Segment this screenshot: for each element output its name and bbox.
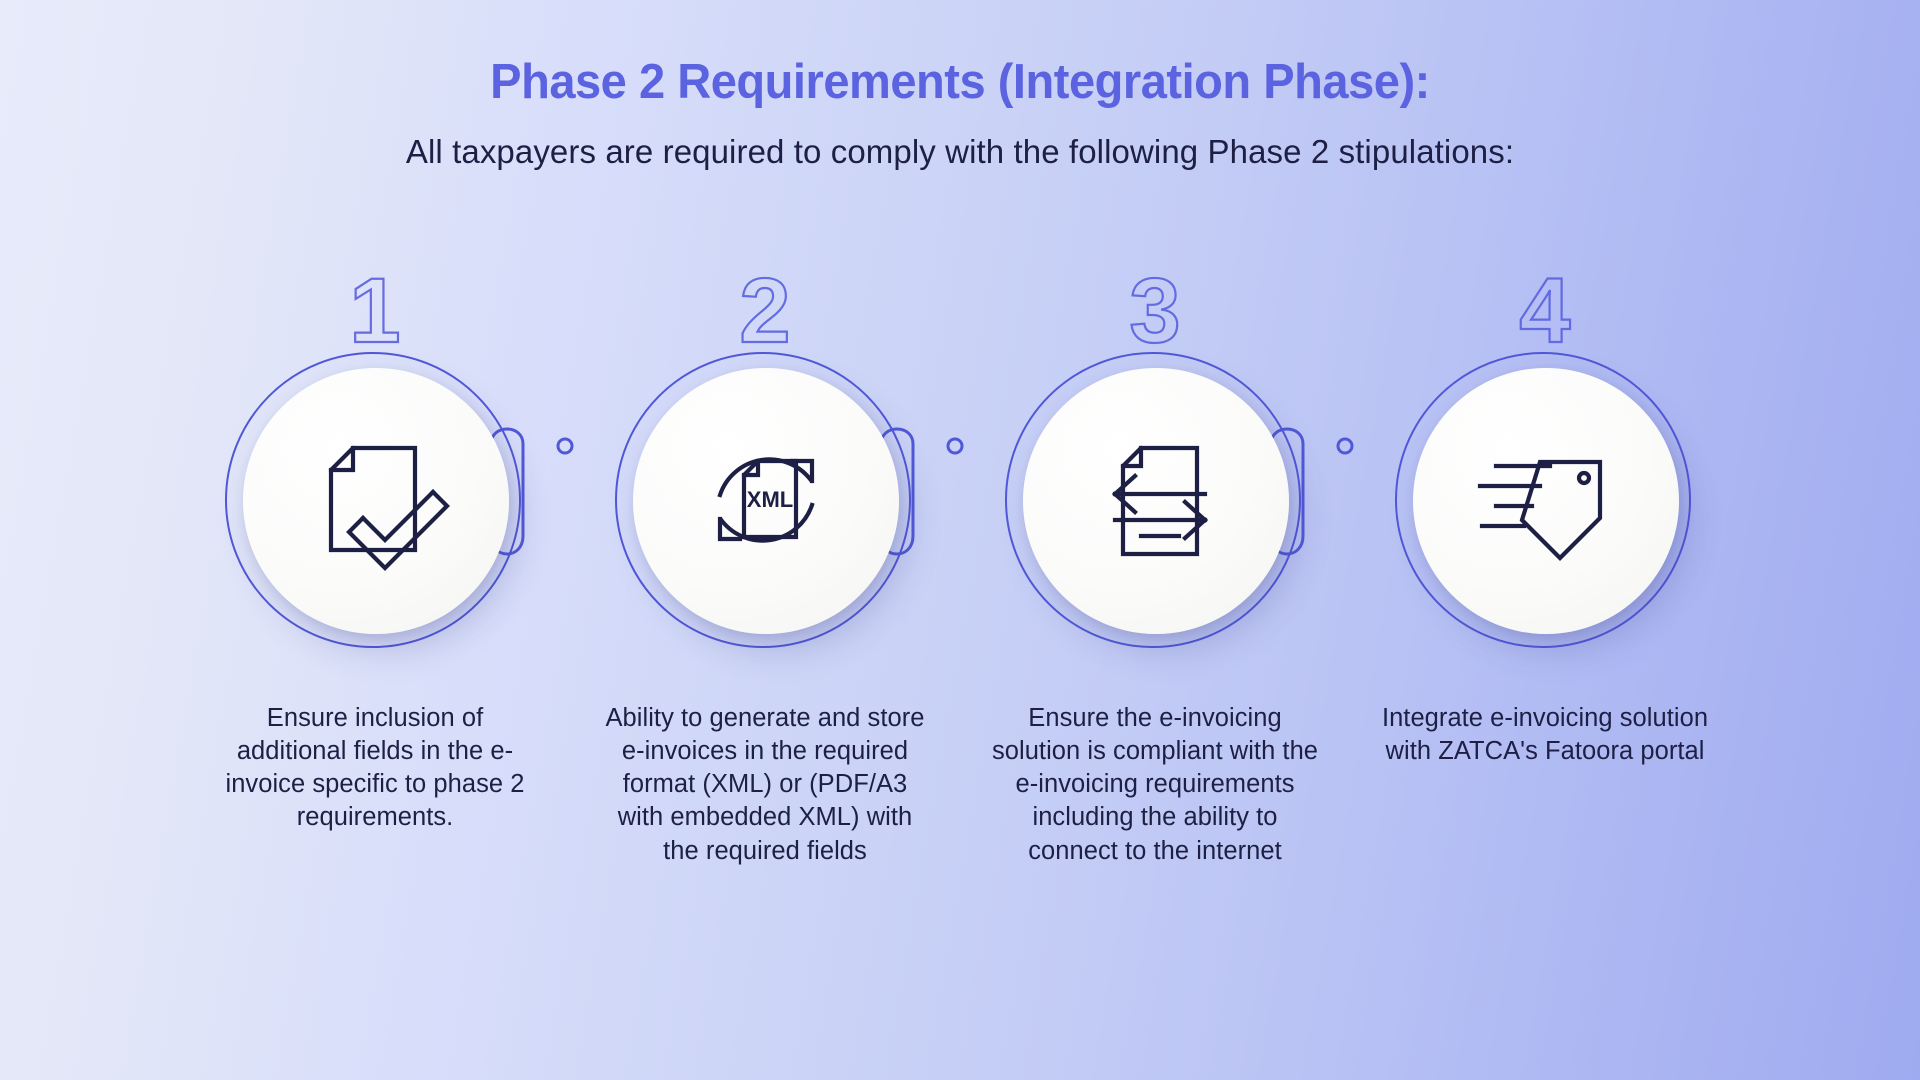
step-circle-2[interactable]: XML [615,352,915,652]
step-3: 3 [960,268,1350,868]
step-number-1: 1 [180,268,570,346]
circle-disc [1413,368,1679,634]
document-exchange-arrows-icon [1079,424,1234,579]
step-number-4: 4 [1350,268,1740,346]
step-caption-2: Ability to generate and store e-invoices… [600,702,930,868]
step-1: 1 Ensure inclusion of addi [180,268,570,835]
numeral-glyph-3: 3 [1129,260,1180,362]
xml-refresh-icon: XML [686,421,846,581]
page-subtitle: All taxpayers are required to comply wit… [0,107,1920,171]
step-caption-1: Ensure inclusion of additional fields in… [210,702,540,835]
circle-disc [243,368,509,634]
page-title: Phase 2 Requirements (Integration Phase)… [38,58,1881,107]
step-circle-1[interactable] [225,352,525,652]
step-circle-3[interactable] [1005,352,1305,652]
circle-disc [1023,368,1289,634]
numeral-glyph-1: 1 [349,260,400,362]
step-2: 2 XML [570,268,960,868]
step-4: 4 Integrate e-invoicing solution with ZA… [1350,268,1740,768]
step-number-2: 2 [570,268,960,346]
header: Phase 2 Requirements (Integration Phase)… [0,0,1920,171]
numeral-glyph-4: 4 [1519,260,1570,362]
circle-disc: XML [633,368,899,634]
document-check-icon [301,426,451,576]
tag-integration-icon [1466,426,1626,576]
step-circle-4[interactable] [1395,352,1695,652]
steps-row: 1 Ensure inclusion of addi [0,268,1920,868]
step-number-3: 3 [960,268,1350,346]
step-caption-3: Ensure the e-invoicing solution is compl… [990,702,1320,868]
step-caption-4: Integrate e-invoicing solution with ZATC… [1380,702,1710,768]
xml-label: XML [747,487,793,512]
numeral-glyph-2: 2 [739,260,790,362]
